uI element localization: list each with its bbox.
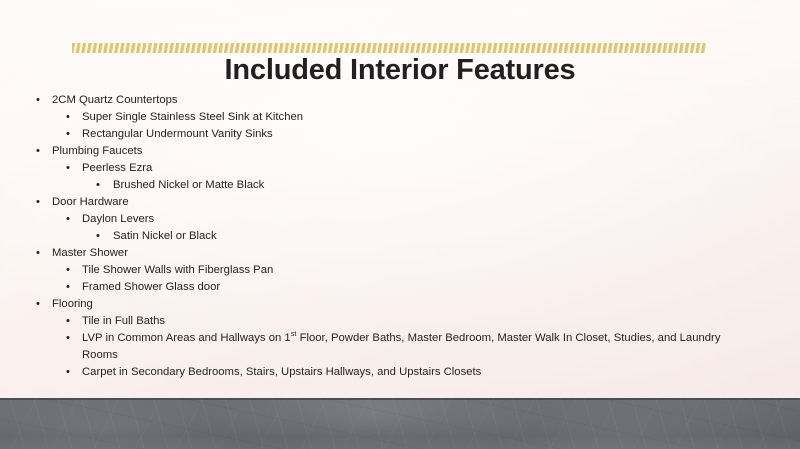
list-item: •Brushed Nickel or Matte Black: [0, 177, 790, 194]
bullet-dot-icon: •: [66, 109, 70, 126]
presentation-slide: Included Interior Features •2CM Quartz C…: [0, 0, 800, 449]
list-item-label: LVP in Common Areas and Hallways on 1st …: [82, 330, 742, 364]
list-item-label: Carpet in Secondary Bedrooms, Stairs, Up…: [82, 364, 742, 381]
list-item: •Flooring: [0, 296, 790, 313]
list-item: •LVP in Common Areas and Hallways on 1st…: [0, 330, 790, 364]
list-item-label: Rectangular Undermount Vanity Sinks: [82, 126, 742, 143]
bullet-dot-icon: •: [66, 364, 70, 381]
list-item-text-before: LVP in Common Areas and Hallways on 1: [82, 332, 291, 344]
list-item: •Master Shower: [0, 245, 790, 262]
list-item-label: Satin Nickel or Black: [113, 228, 742, 245]
list-item: •Peerless Ezra: [0, 160, 790, 177]
list-item: •Super Single Stainless Steel Sink at Ki…: [0, 109, 790, 126]
list-item: •Daylon Levers: [0, 211, 790, 228]
list-item: •Door Hardware: [0, 194, 790, 211]
bullet-dot-icon: •: [66, 313, 70, 330]
list-item-label: Daylon Levers: [82, 211, 742, 228]
bullet-dot-icon: •: [66, 126, 70, 143]
list-item-label: Door Hardware: [52, 194, 750, 211]
feature-bullet-list: •2CM Quartz Countertops•Super Single Sta…: [0, 92, 790, 381]
list-item: •Plumbing Faucets: [0, 143, 790, 160]
list-item: •Tile in Full Baths: [0, 313, 790, 330]
list-item-label: Super Single Stainless Steel Sink at Kit…: [82, 109, 742, 126]
list-item-label: Master Shower: [52, 245, 750, 262]
bullet-dot-icon: •: [96, 228, 100, 245]
list-item: •Carpet in Secondary Bedrooms, Stairs, U…: [0, 364, 790, 381]
bullet-dot-icon: •: [36, 143, 40, 160]
list-item: •Framed Shower Glass door: [0, 279, 790, 296]
bullet-dot-icon: •: [36, 245, 40, 262]
list-item-label: Tile in Full Baths: [82, 313, 742, 330]
bullet-dot-icon: •: [66, 330, 70, 347]
list-item-label: Brushed Nickel or Matte Black: [113, 177, 742, 194]
list-item-label: Framed Shower Glass door: [82, 279, 742, 296]
list-item: •Rectangular Undermount Vanity Sinks: [0, 126, 790, 143]
bullet-dot-icon: •: [66, 211, 70, 228]
bullet-dot-icon: •: [36, 296, 40, 313]
bullet-dot-icon: •: [66, 160, 70, 177]
list-item: •Satin Nickel or Black: [0, 228, 790, 245]
decorative-dashed-accent-band: [72, 43, 706, 53]
page-title: Included Interior Features: [0, 55, 800, 85]
list-item: •Tile Shower Walls with Fiberglass Pan: [0, 262, 790, 279]
bullet-dot-icon: •: [36, 92, 40, 109]
bullet-dot-icon: •: [66, 262, 70, 279]
list-item: •2CM Quartz Countertops: [0, 92, 790, 109]
list-item-label: Plumbing Faucets: [52, 143, 750, 160]
list-item-label: Peerless Ezra: [82, 160, 742, 177]
bullet-dot-icon: •: [66, 279, 70, 296]
bullet-dot-icon: •: [96, 177, 100, 194]
slate-floor-band: [0, 398, 800, 449]
list-item-label: Tile Shower Walls with Fiberglass Pan: [82, 262, 742, 279]
bullet-dot-icon: •: [36, 194, 40, 211]
list-item-label: 2CM Quartz Countertops: [52, 92, 750, 109]
slate-vein-texture: [0, 398, 800, 449]
list-item-label: Flooring: [52, 296, 750, 313]
